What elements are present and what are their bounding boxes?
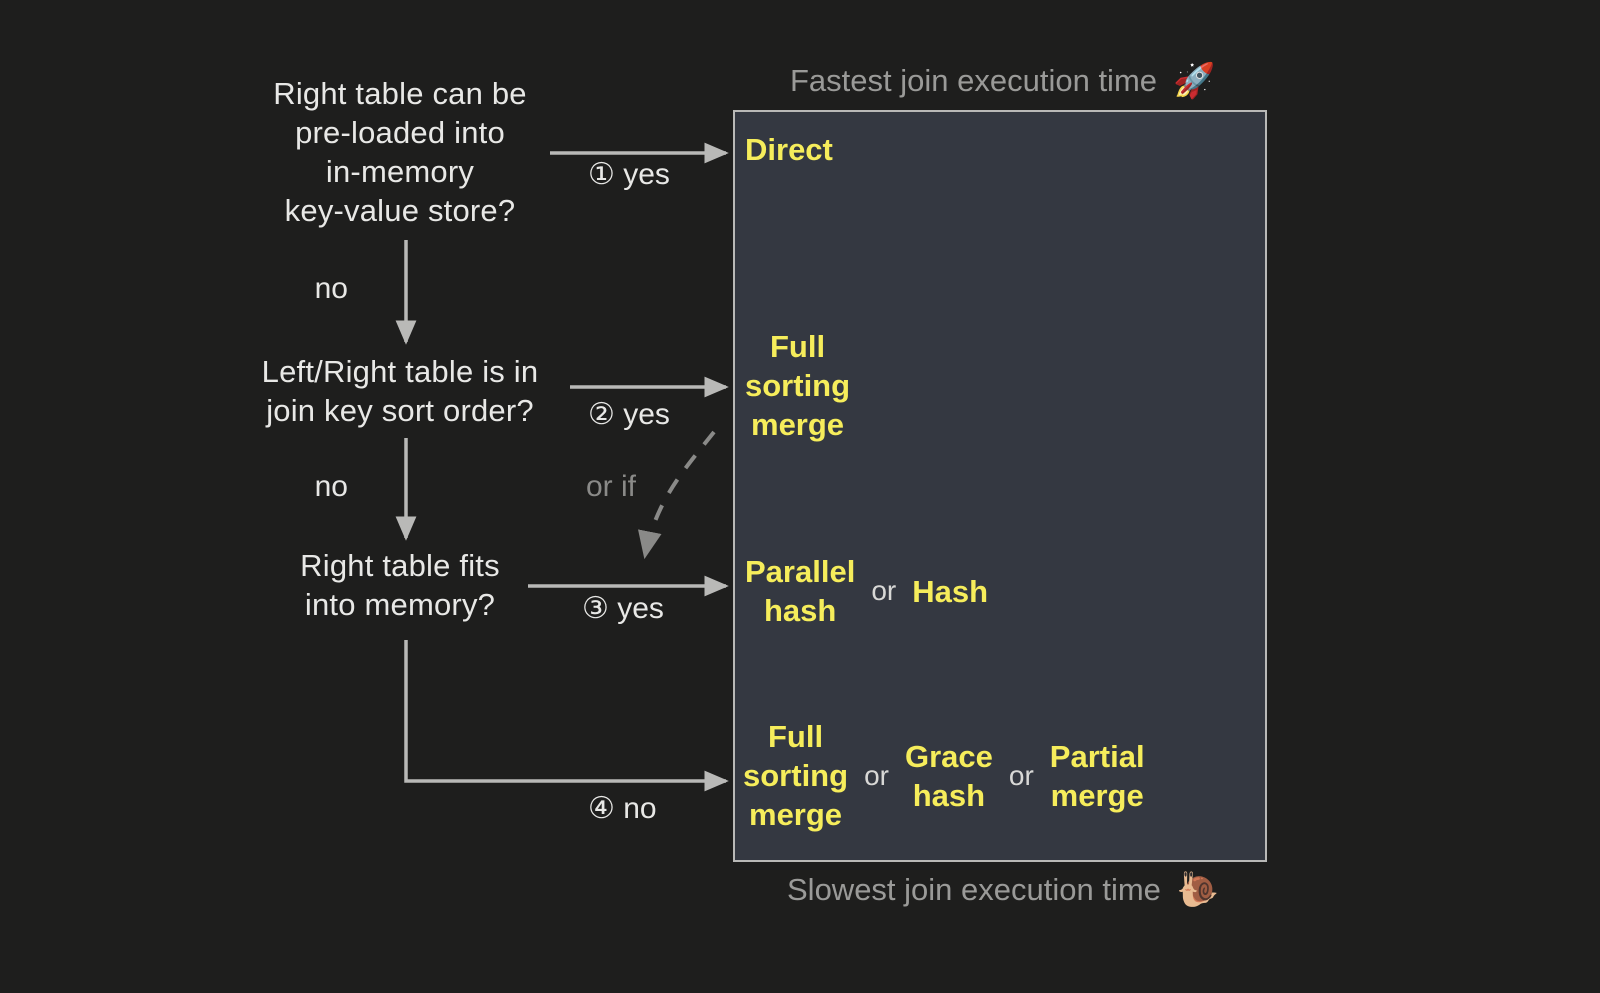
edge-label-no-4: ④ no	[588, 792, 657, 826]
algorithm-row-slow: Full sorting merge or Grace hash or Part…	[735, 717, 1265, 834]
edge-label-yes-3: ③ yes	[582, 592, 664, 626]
rocket-icon: 🚀	[1173, 64, 1215, 98]
decision-question-2: Left/Right table is in join key sort ord…	[205, 352, 595, 430]
algorithm-full-sorting-merge-slow: Full sorting merge	[743, 717, 848, 834]
algorithm-separator-or-1: or	[848, 760, 905, 792]
edge-no-4	[406, 640, 726, 781]
decision-question-1: Right table can be pre-loaded into in-me…	[205, 74, 595, 230]
slowest-caption: Slowest join execution time 🐌	[787, 872, 1219, 908]
edge-label-no-2: no	[258, 470, 348, 504]
algorithm-parallel-hash: Parallel hash	[745, 552, 855, 630]
algorithm-direct: Direct	[745, 130, 833, 169]
algorithm-row-full-sorting-merge: Full sorting merge	[735, 327, 1265, 444]
algorithm-row-hash: Parallel hash or Hash	[735, 552, 1265, 630]
snail-icon: 🐌	[1177, 873, 1219, 907]
algorithm-partial-merge: Partial merge	[1050, 737, 1145, 815]
edge-label-no-1: no	[258, 272, 348, 306]
fastest-caption-label: Fastest join execution time	[790, 63, 1157, 99]
join-strategy-decision-diagram: Fastest join execution time 🚀 Right tabl…	[0, 0, 1600, 993]
algorithm-hash: Hash	[912, 572, 988, 611]
slowest-caption-label: Slowest join execution time	[787, 872, 1161, 908]
edge-label-yes-1: ① yes	[588, 158, 670, 192]
algorithm-full-sorting-merge: Full sorting merge	[745, 327, 850, 444]
edge-or-if-dashed	[645, 432, 714, 556]
algorithm-separator-or: or	[855, 575, 912, 607]
join-algorithms-panel: Direct Full sorting merge Parallel hash …	[733, 110, 1267, 862]
algorithm-separator-or-2: or	[993, 760, 1050, 792]
decision-question-3: Right table fits into memory?	[205, 546, 595, 624]
fastest-caption: Fastest join execution time 🚀	[790, 63, 1215, 99]
edge-label-or-if: or if	[586, 470, 636, 504]
algorithm-grace-hash: Grace hash	[905, 737, 993, 815]
edge-label-yes-2: ② yes	[588, 398, 670, 432]
algorithm-row-direct: Direct	[735, 130, 1265, 169]
